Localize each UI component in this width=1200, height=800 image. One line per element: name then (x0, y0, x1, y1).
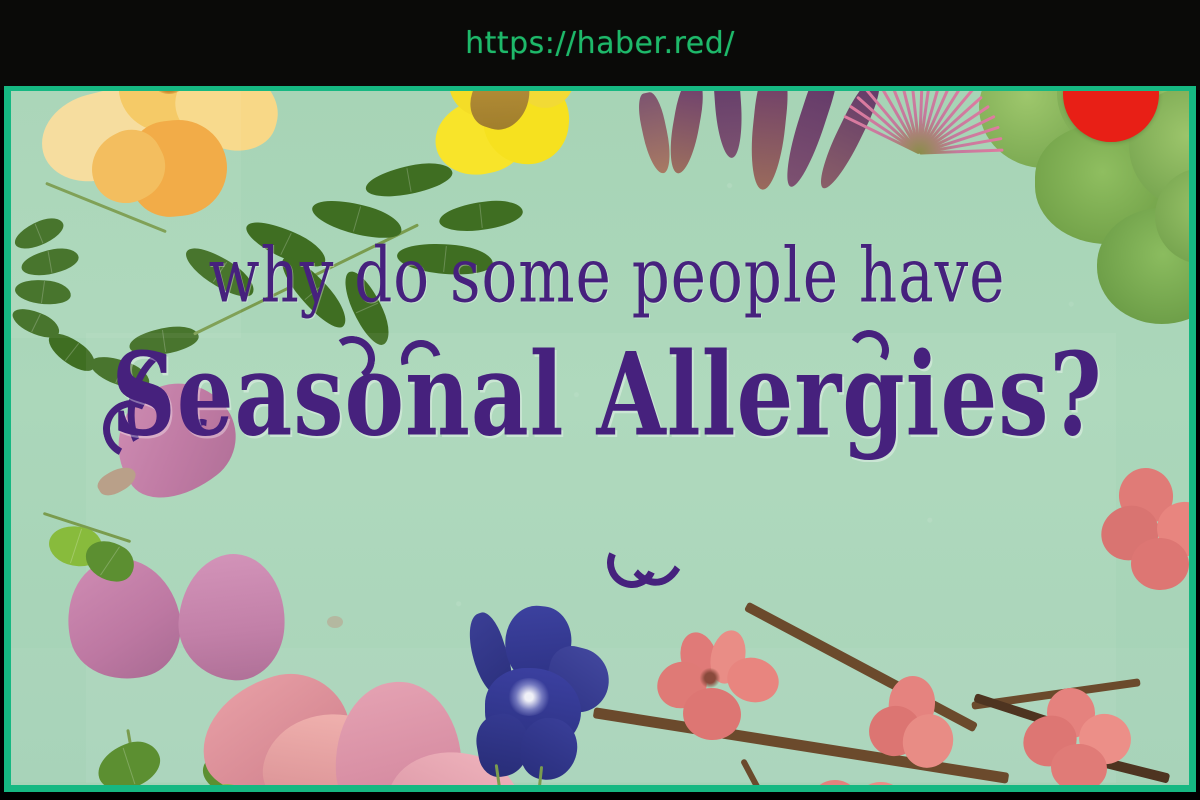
title-swash-icon (600, 531, 664, 595)
screenshot-root: https://haber.red/ (0, 0, 1200, 800)
pink-bell-flowers (41, 378, 341, 708)
coral-blossom-right-edge (1101, 468, 1189, 598)
coral-cherry-blossoms (571, 628, 1189, 785)
url-bar: https://haber.red/ (0, 0, 1200, 90)
pink-thistle-flower (823, 88, 1013, 248)
video-thumbnail-frame[interactable]: TEDEd why do some people have Seasonal A… (4, 88, 1196, 792)
title-swash-icon (609, 462, 695, 589)
title-swash-icon (845, 326, 893, 374)
poster-canvas: TEDEd why do some people have Seasonal A… (11, 88, 1189, 785)
yellow-pressed-flower (421, 88, 581, 210)
frame-top-edge (4, 86, 1196, 91)
url-text[interactable]: https://haber.red/ (465, 26, 735, 61)
